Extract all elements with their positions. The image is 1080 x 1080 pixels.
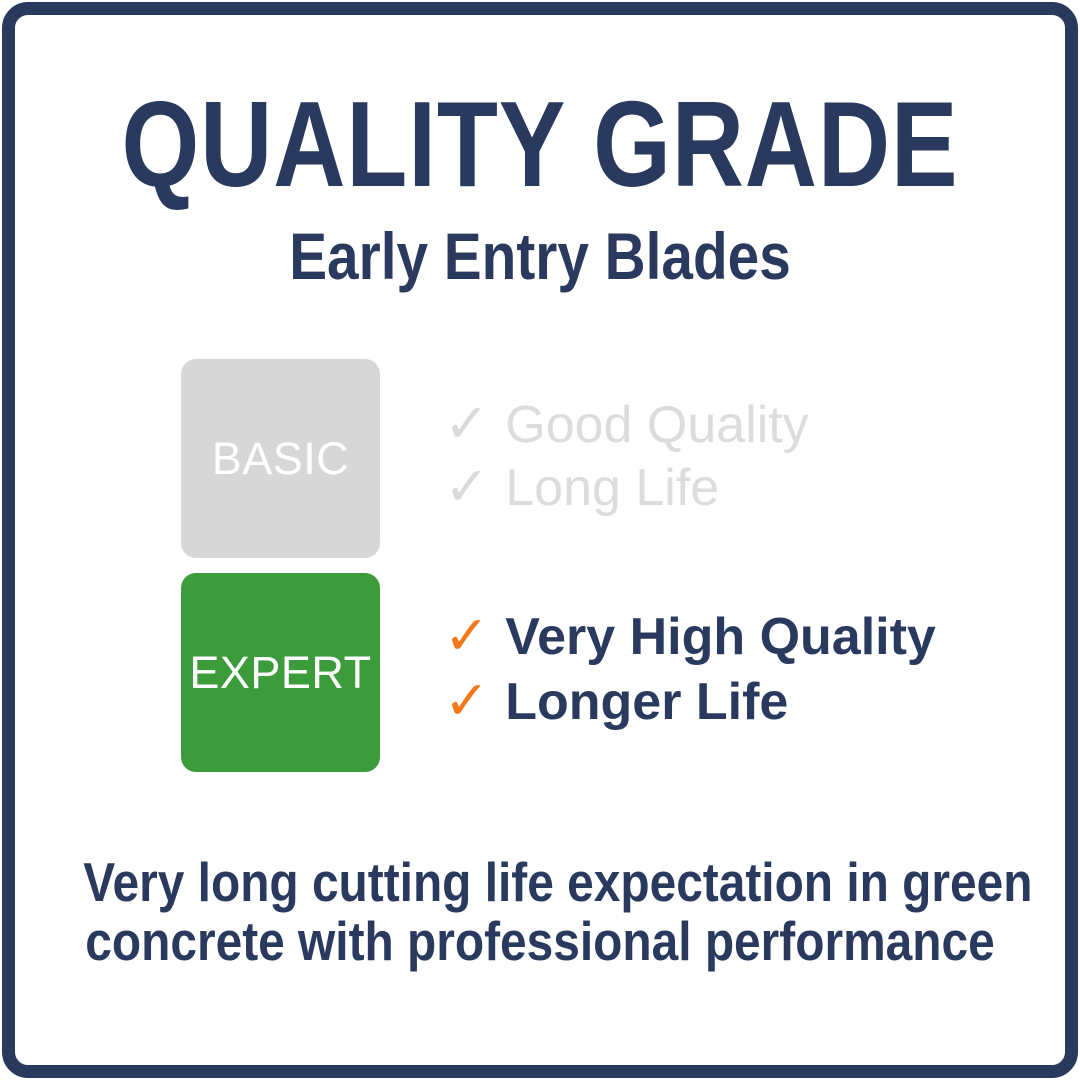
check-icon: ✓ <box>444 674 489 728</box>
check-icon: ✓ <box>444 397 489 451</box>
tier-row-basic: BASIC ✓ Good Quality ✓ Long Life <box>15 359 1065 558</box>
caption-line-2: concrete with professional performance <box>83 912 997 971</box>
feature-list-expert: ✓ Very High Quality ✓ Longer Life <box>444 573 936 772</box>
feature-label: Long Life <box>505 459 719 517</box>
feature-item: ✓ Good Quality <box>444 396 809 454</box>
feature-item: ✓ Long Life <box>444 459 809 517</box>
badge-expert-label: EXPERT <box>189 650 371 695</box>
card-header: QUALITY GRADE Early Entry Blades <box>15 83 1065 289</box>
badge-expert: EXPERT <box>181 573 380 772</box>
card-caption: Very long cutting life expectation in gr… <box>15 853 1065 971</box>
check-icon: ✓ <box>444 460 489 514</box>
page-title: QUALITY GRADE <box>110 83 971 205</box>
feature-label: Longer Life <box>505 673 788 731</box>
feature-list-basic: ✓ Good Quality ✓ Long Life <box>444 359 809 558</box>
page-subtitle: Early Entry Blades <box>89 223 992 289</box>
feature-item: ✓ Longer Life <box>444 673 936 731</box>
feature-label: Good Quality <box>505 396 809 454</box>
badge-basic: BASIC <box>181 359 380 558</box>
quality-grade-card: QUALITY GRADE Early Entry Blades BASIC ✓… <box>0 0 1080 1080</box>
badge-basic-label: BASIC <box>212 436 350 481</box>
check-icon: ✓ <box>444 609 489 663</box>
feature-label: Very High Quality <box>505 608 936 666</box>
caption-line-1: Very long cutting life expectation in gr… <box>83 853 997 912</box>
card-body: QUALITY GRADE Early Entry Blades BASIC ✓… <box>15 15 1065 1065</box>
feature-item: ✓ Very High Quality <box>444 608 936 666</box>
tier-row-expert: EXPERT ✓ Very High Quality ✓ Longer Life <box>15 573 1065 772</box>
tier-list: BASIC ✓ Good Quality ✓ Long Life EXPERT <box>15 359 1065 787</box>
